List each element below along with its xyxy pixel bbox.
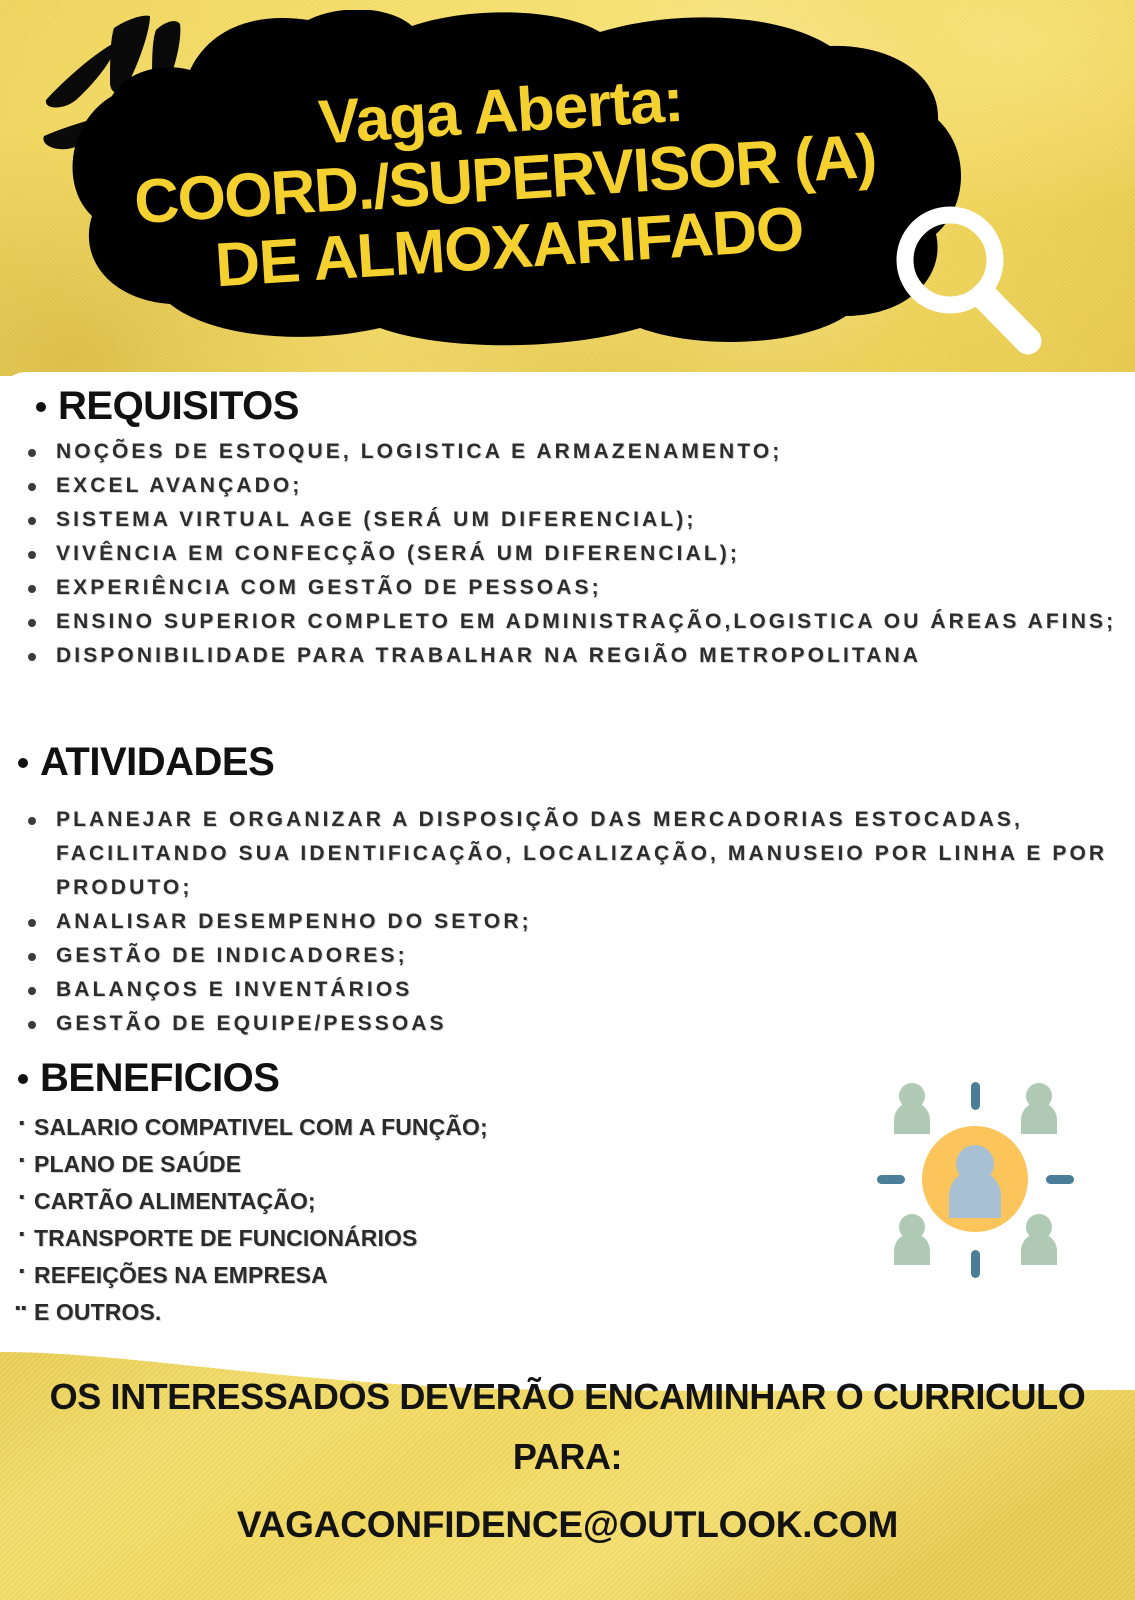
list-item: SISTEMA VIRTUAL AGE (SERÁ UM DIFERENCIAL… [14,503,1124,537]
list-item: E OUTROS. [14,1294,654,1331]
footer-email: VAGACONFIDENCE@OUTLOOK.COM [0,1502,1135,1548]
footer-text-block: OS INTERESSADOS DEVERÃO ENCAMINHAR O CUR… [0,1374,1135,1548]
footer: OS INTERESSADOS DEVERÃO ENCAMINHAR O CUR… [0,1330,1135,1600]
list-item: NOÇÕES DE ESTOQUE, LOGISTICA E ARMAZENAM… [14,435,1124,469]
list-item: SALARIO COMPATIVEL COM A FUNÇÃO; [14,1109,654,1146]
team-network-icon [868,1072,1083,1287]
list-item: EXCEL AVANÇADO; [14,469,1124,503]
list-item: DISPONIBILIDADE PARA TRABALHAR NA REGIÃO… [14,639,1124,673]
list-item: VIVÊNCIA EM CONFECÇÃO (SERÁ UM DIFERENCI… [14,537,1124,571]
requisitos-list: NOÇÕES DE ESTOQUE, LOGISTICA E ARMAZENAM… [14,435,1124,673]
beneficios-heading: BENEFICIOS [18,1056,654,1101]
bullet-icon [18,758,28,768]
list-item: PLANO DE SAÚDE [14,1146,654,1183]
beneficios-list: SALARIO COMPATIVEL COM A FUNÇÃO; PLANO D… [14,1109,654,1331]
list-item: ANALISAR DESEMPENHO DO SETOR; [14,905,1124,939]
atividades-heading: ATIVIDADES [18,740,1124,785]
list-item: ENSINO SUPERIOR COMPLETO EM ADMINISTRAÇÃ… [14,605,1124,639]
list-item: GESTÃO DE INDICADORES; [14,939,1124,973]
title-bubble: Vaga Aberta: COORD./SUPERVISOR (A) DE AL… [40,10,970,350]
job-posting-poster: Vaga Aberta: COORD./SUPERVISOR (A) DE AL… [0,0,1135,1600]
section-beneficios: BENEFICIOS SALARIO COMPATIVEL COM A FUNÇ… [14,1056,654,1331]
list-item: PLANEJAR E ORGANIZAR A DISPOSIÇÃO DAS ME… [14,803,1124,905]
bullet-icon [36,402,46,412]
footer-line-1: OS INTERESSADOS DEVERÃO ENCAMINHAR O CUR… [0,1374,1135,1420]
section-atividades: ATIVIDADES PLANEJAR E ORGANIZAR A DISPOS… [14,740,1124,1041]
list-item: GESTÃO DE EQUIPE/PESSOAS [14,1007,1124,1041]
section-requisitos: REQUISITOS NOÇÕES DE ESTOQUE, LOGISTICA … [14,384,1124,673]
magnifying-glass-icon [888,198,1063,363]
bubble-shape [40,10,970,350]
bullet-icon [18,1074,28,1084]
requisitos-heading: REQUISITOS [36,384,1124,429]
list-item: TRANSPORTE DE FUNCIONÁRIOS [14,1220,654,1257]
atividades-title: ATIVIDADES [40,740,274,785]
list-item: BALANÇOS E INVENTÁRIOS [14,973,1124,1007]
list-item: EXPERIÊNCIA COM GESTÃO DE PESSOAS; [14,571,1124,605]
footer-line-2: PARA: [0,1434,1135,1480]
atividades-list: PLANEJAR E ORGANIZAR A DISPOSIÇÃO DAS ME… [14,803,1124,1041]
beneficios-title: BENEFICIOS [40,1056,279,1101]
list-item: CARTÃO ALIMENTAÇÃO; [14,1183,654,1220]
requisitos-title: REQUISITOS [58,384,299,429]
list-item: REFEIÇÕES NA EMPRESA [14,1257,654,1294]
